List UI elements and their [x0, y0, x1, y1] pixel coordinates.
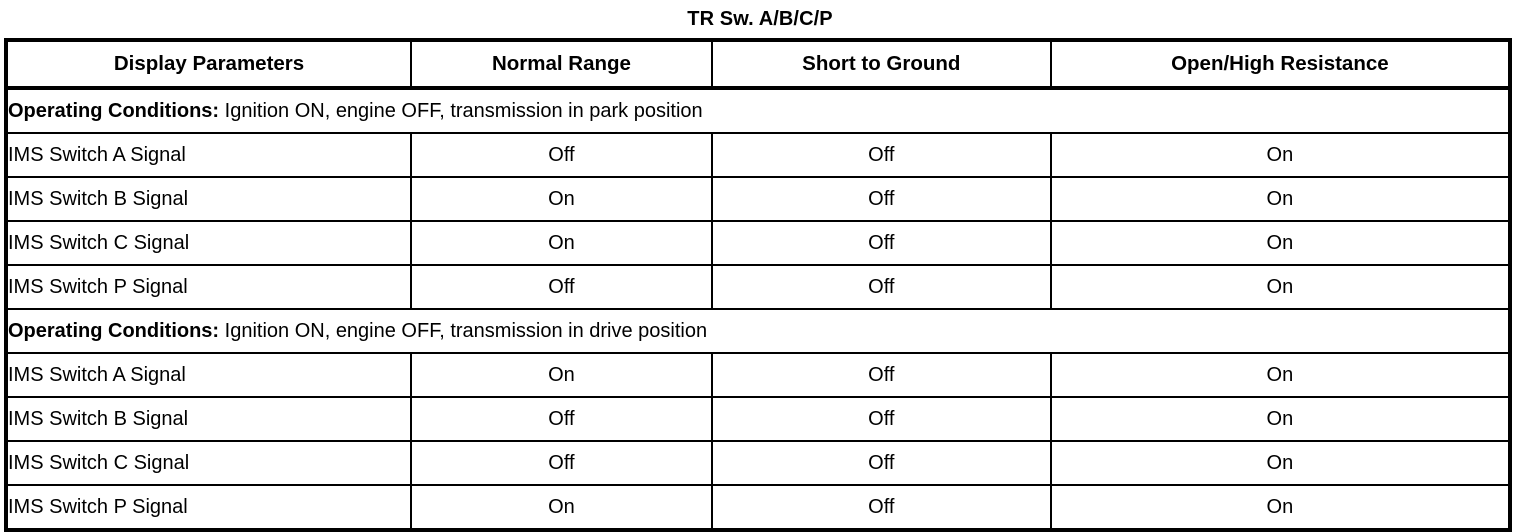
row-parameter: IMS Switch A Signal — [6, 133, 411, 177]
row-open-high-resistance: On — [1051, 485, 1510, 530]
operating-conditions-text: Ignition ON, engine OFF, transmission in… — [219, 100, 703, 122]
operating-conditions-label: Operating Conditions: — [8, 320, 219, 342]
row-parameter: IMS Switch B Signal — [6, 177, 411, 221]
column-header-display-parameters: Display Parameters — [6, 40, 411, 88]
row-short-to-ground: Off — [712, 265, 1051, 309]
row-open-high-resistance: On — [1051, 177, 1510, 221]
table-container: Display Parameters Normal Range Short to… — [0, 38, 1520, 532]
diagnostic-spec-page: TR Sw. A/B/C/P Display Parameters Normal… — [0, 0, 1520, 518]
table-row: IMS Switch C Signal On Off On — [6, 221, 1510, 265]
table-row: IMS Switch P Signal On Off On — [6, 485, 1510, 530]
row-normal-range: On — [411, 485, 712, 530]
row-short-to-ground: Off — [712, 441, 1051, 485]
column-header-short-to-ground: Short to Ground — [712, 40, 1051, 88]
row-open-high-resistance: On — [1051, 441, 1510, 485]
column-header-open-high-resistance: Open/High Resistance — [1051, 40, 1510, 88]
row-short-to-ground: Off — [712, 397, 1051, 441]
operating-conditions-row: Operating Conditions: Ignition ON, engin… — [6, 309, 1510, 353]
row-parameter: IMS Switch P Signal — [6, 485, 411, 530]
row-normal-range: On — [411, 353, 712, 397]
page-title: TR Sw. A/B/C/P — [0, 0, 1520, 38]
row-normal-range: On — [411, 221, 712, 265]
row-short-to-ground: Off — [712, 353, 1051, 397]
row-short-to-ground: Off — [712, 485, 1051, 530]
row-short-to-ground: Off — [712, 133, 1051, 177]
operating-conditions-row: Operating Conditions: Ignition ON, engin… — [6, 88, 1510, 133]
row-short-to-ground: Off — [712, 177, 1051, 221]
table-row: IMS Switch C Signal Off Off On — [6, 441, 1510, 485]
row-normal-range: Off — [411, 397, 712, 441]
row-open-high-resistance: On — [1051, 133, 1510, 177]
row-normal-range: Off — [411, 133, 712, 177]
operating-conditions-label: Operating Conditions: — [8, 100, 219, 122]
row-parameter: IMS Switch A Signal — [6, 353, 411, 397]
row-open-high-resistance: On — [1051, 265, 1510, 309]
row-parameter: IMS Switch C Signal — [6, 441, 411, 485]
column-header-normal-range: Normal Range — [411, 40, 712, 88]
row-parameter: IMS Switch B Signal — [6, 397, 411, 441]
row-parameter: IMS Switch P Signal — [6, 265, 411, 309]
table-row: IMS Switch B Signal Off Off On — [6, 397, 1510, 441]
table-row: IMS Switch B Signal On Off On — [6, 177, 1510, 221]
row-normal-range: Off — [411, 265, 712, 309]
row-normal-range: Off — [411, 441, 712, 485]
table-header: Display Parameters Normal Range Short to… — [6, 40, 1510, 88]
row-normal-range: On — [411, 177, 712, 221]
header-row: Display Parameters Normal Range Short to… — [6, 40, 1510, 88]
row-open-high-resistance: On — [1051, 397, 1510, 441]
row-open-high-resistance: On — [1051, 221, 1510, 265]
table-row: IMS Switch P Signal Off Off On — [6, 265, 1510, 309]
table-row: IMS Switch A Signal On Off On — [6, 353, 1510, 397]
operating-conditions-cell: Operating Conditions: Ignition ON, engin… — [6, 88, 1510, 133]
row-open-high-resistance: On — [1051, 353, 1510, 397]
operating-conditions-cell: Operating Conditions: Ignition ON, engin… — [6, 309, 1510, 353]
row-parameter: IMS Switch C Signal — [6, 221, 411, 265]
row-short-to-ground: Off — [712, 221, 1051, 265]
table-body: Operating Conditions: Ignition ON, engin… — [6, 88, 1510, 530]
table-row: IMS Switch A Signal Off Off On — [6, 133, 1510, 177]
operating-conditions-text: Ignition ON, engine OFF, transmission in… — [219, 320, 707, 342]
tr-switch-spec-table: Display Parameters Normal Range Short to… — [4, 38, 1512, 532]
